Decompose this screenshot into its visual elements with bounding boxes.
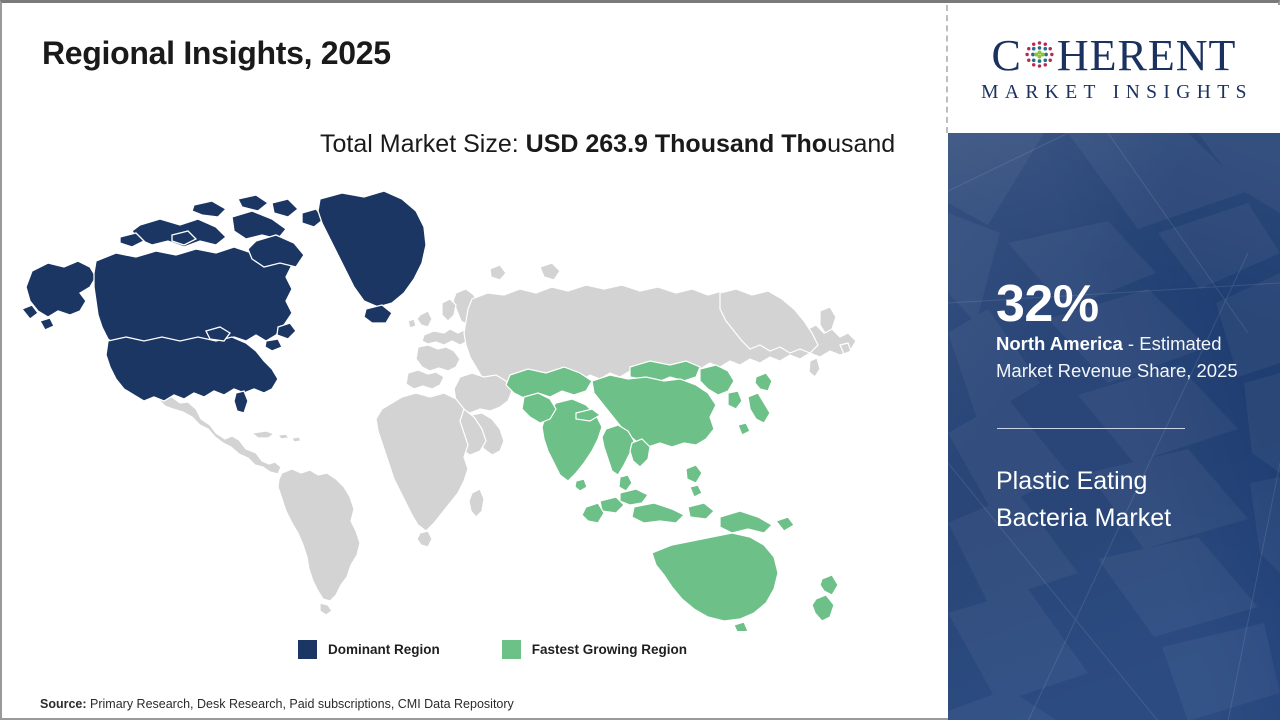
legend-item-dominant-region: Dominant Region (298, 640, 440, 659)
legend-label-dominant: Dominant Region (328, 642, 440, 657)
globe-dots-icon (1023, 38, 1056, 71)
logo-container: C (948, 5, 1280, 133)
source-label: Source: (40, 697, 87, 711)
main-content-pane: Regional Insights, 2025 Total Market Siz… (2, 3, 946, 720)
map-legend: Dominant Region Fastest Growing Region (298, 640, 687, 659)
stat-description: North America - Estimated Market Revenue… (996, 331, 1248, 385)
infographic-frame: Regional Insights, 2025 Total Market Siz… (0, 0, 1280, 720)
map-region-north-america-dominant (22, 191, 426, 413)
logo-letters-herent: HERENT (1057, 34, 1237, 78)
map-region-asia-pacific-fastest-growing (506, 361, 838, 631)
logo-letter-c: C (992, 34, 1022, 78)
legend-label-fastest-growing: Fastest Growing Region (532, 642, 687, 657)
market-size-suffix: usand (827, 130, 895, 158)
logo-subtitle: MARKET INSIGHTS (975, 82, 1253, 104)
stat-sidebar: 32% North America - Estimated Market Rev… (948, 133, 1280, 720)
logo-wordmark: C (992, 34, 1237, 78)
stat-percentage: 32% (996, 278, 1099, 330)
legend-swatch-fastest-growing (502, 640, 521, 659)
total-market-size-text: Total Market Size: USD 263.9 Thousand Th… (320, 127, 920, 162)
market-size-prefix: Total Market Size: (320, 130, 526, 158)
legend-item-fastest-growing-region: Fastest Growing Region (502, 640, 687, 659)
source-footer: Source: Primary Research, Desk Research,… (40, 697, 514, 711)
sidebar-divider (997, 428, 1185, 429)
source-text: Primary Research, Desk Research, Paid su… (87, 697, 514, 711)
market-name-title: Plastic Eating Bacteria Market (996, 463, 1246, 537)
sidebar-content: 32% North America - Estimated Market Rev… (996, 133, 1252, 720)
market-size-value: USD 263.9 Thousand Tho (526, 130, 827, 158)
stat-region-name: North America (996, 333, 1123, 354)
world-map (20, 181, 920, 631)
page-title: Regional Insights, 2025 (42, 35, 391, 72)
legend-swatch-dominant (298, 640, 317, 659)
